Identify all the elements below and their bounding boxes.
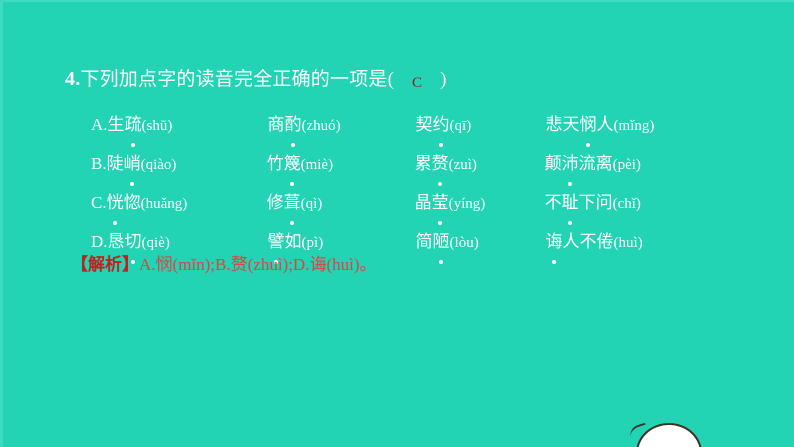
word-pre: 修 <box>267 193 284 212</box>
emphasis-char: 篾 <box>284 145 301 183</box>
option-c-item-1: 恍惚(huǎng) <box>107 184 267 223</box>
pinyin: (lòu) <box>450 235 479 251</box>
answer-value: C <box>394 68 440 98</box>
pinyin: (pì) <box>302 235 324 251</box>
option-c-item-4: 不耻下问(chǐ) <box>545 184 641 223</box>
pinyin: (huì) <box>614 235 643 251</box>
emphasis-char: 约 <box>433 106 450 144</box>
word-post: 如 <box>285 232 302 251</box>
option-d-item-4: 诲人不倦(huì) <box>546 223 643 262</box>
explanation-line: 【解析】A.悯(mǐn);B.赘(zhuì);D.诲(huì)。 <box>71 252 377 278</box>
emphasis-char: 沛 <box>562 145 579 183</box>
word-pre: 晶 <box>415 193 432 212</box>
pinyin: (huǎng) <box>141 196 188 212</box>
pinyin: (pèi) <box>613 157 641 173</box>
word-pre: 颠 <box>545 154 562 173</box>
emphasis-char: 酌 <box>285 106 302 144</box>
emphasis-char: 诲 <box>546 223 563 261</box>
pinyin: (yíng) <box>449 196 486 212</box>
pinyin: (qī) <box>450 118 472 134</box>
word-pre: 累 <box>415 154 432 173</box>
pinyin: (qiè) <box>142 235 170 251</box>
pinyin: (zuì) <box>449 157 477 173</box>
option-b-item-2: 竹篾(miè) <box>267 145 415 184</box>
word-pre: 商 <box>268 115 285 134</box>
emphasis-char: 耻 <box>562 184 579 222</box>
option-label-b: B. <box>91 145 107 183</box>
option-c-item-3: 晶莹(yíng) <box>415 184 545 223</box>
option-row-c: C.恍惚(huǎng)修葺(qì)晶莹(yíng)不耻下问(chǐ) <box>65 184 745 223</box>
option-b-item-3: 累赘(zuì) <box>415 145 545 184</box>
pinyin: (zhuó) <box>302 118 341 134</box>
word-post: 惚 <box>124 193 141 212</box>
emphasis-char: 悯 <box>580 106 597 144</box>
word-post: 人不倦 <box>563 232 614 251</box>
pinyin: (qiào) <box>141 157 177 173</box>
word-pre: 恳 <box>108 232 125 251</box>
question-stem-text: 下列加点字的读音完全正确的一项是 <box>80 69 387 90</box>
word-post: 下问 <box>579 193 613 212</box>
pinyin: (qì) <box>301 196 323 212</box>
explanation-tag: 【解析】 <box>71 255 139 274</box>
word-pre: 不 <box>545 193 562 212</box>
word-post: 人 <box>597 115 614 134</box>
option-a-item-3: 契约(qī) <box>416 106 546 145</box>
option-row-b: B.陡峭(qiào)竹篾(miè)累赘(zuì)颠沛流离(pèi) <box>65 145 745 184</box>
option-b-item-1: 陡峭(qiào) <box>107 145 267 184</box>
emphasis-char: 峭 <box>124 145 141 183</box>
emphasis-char: 莹 <box>432 184 449 222</box>
question-number: 4. <box>65 68 80 90</box>
word-pre: 竹 <box>267 154 284 173</box>
option-a-item-1: 生疏(shū) <box>108 106 268 145</box>
pinyin: (mǐng) <box>614 118 655 134</box>
emphasis-char: 恍 <box>107 184 124 222</box>
word-pre: 陡 <box>107 154 124 173</box>
pinyin: (miè) <box>301 157 333 173</box>
question-block: 4.下列加点字的读音完全正确的一项是(C) A.生疏(shū)商酌(zhuó)契… <box>65 64 745 262</box>
word-pre: 生 <box>108 115 125 134</box>
answer-close-paren: ) <box>440 69 447 90</box>
emphasis-char: 赘 <box>432 145 449 183</box>
emphasis-char: 陋 <box>433 223 450 261</box>
option-a-item-2: 商酌(zhuó) <box>268 106 416 145</box>
option-a-item-4: 悲天悯人(mǐng) <box>546 106 655 145</box>
emphasis-char: 葺 <box>284 184 301 222</box>
question-stem-line: 4.下列加点字的读音完全正确的一项是(C) <box>65 64 745 98</box>
option-d-item-3: 简陋(lòu) <box>416 223 546 262</box>
option-b-item-4: 颠沛流离(pèi) <box>545 145 641 184</box>
slide-canvas: 4.下列加点字的读音完全正确的一项是(C) A.生疏(shū)商酌(zhuó)契… <box>0 0 794 447</box>
word-post: 流离 <box>579 154 613 173</box>
options-list: A.生疏(shū)商酌(zhuó)契约(qī)悲天悯人(mǐng) B.陡峭(q… <box>65 106 745 262</box>
explanation-text: A.悯(mǐn);B.赘(zhuì);D.诲(huì)。 <box>139 255 377 274</box>
pinyin: (chǐ) <box>613 196 641 212</box>
word-pre: 契 <box>416 115 433 134</box>
emphasis-char: 疏 <box>125 106 142 144</box>
option-label-a: A. <box>91 106 108 144</box>
word-pre: 简 <box>416 232 433 251</box>
option-label-c: C. <box>91 184 107 222</box>
pinyin: (shū) <box>142 118 173 134</box>
option-c-item-2: 修葺(qì) <box>267 184 415 223</box>
word-pre: 悲天 <box>546 115 580 134</box>
option-row-a: A.生疏(shū)商酌(zhuó)契约(qī)悲天悯人(mǐng) <box>65 106 745 145</box>
